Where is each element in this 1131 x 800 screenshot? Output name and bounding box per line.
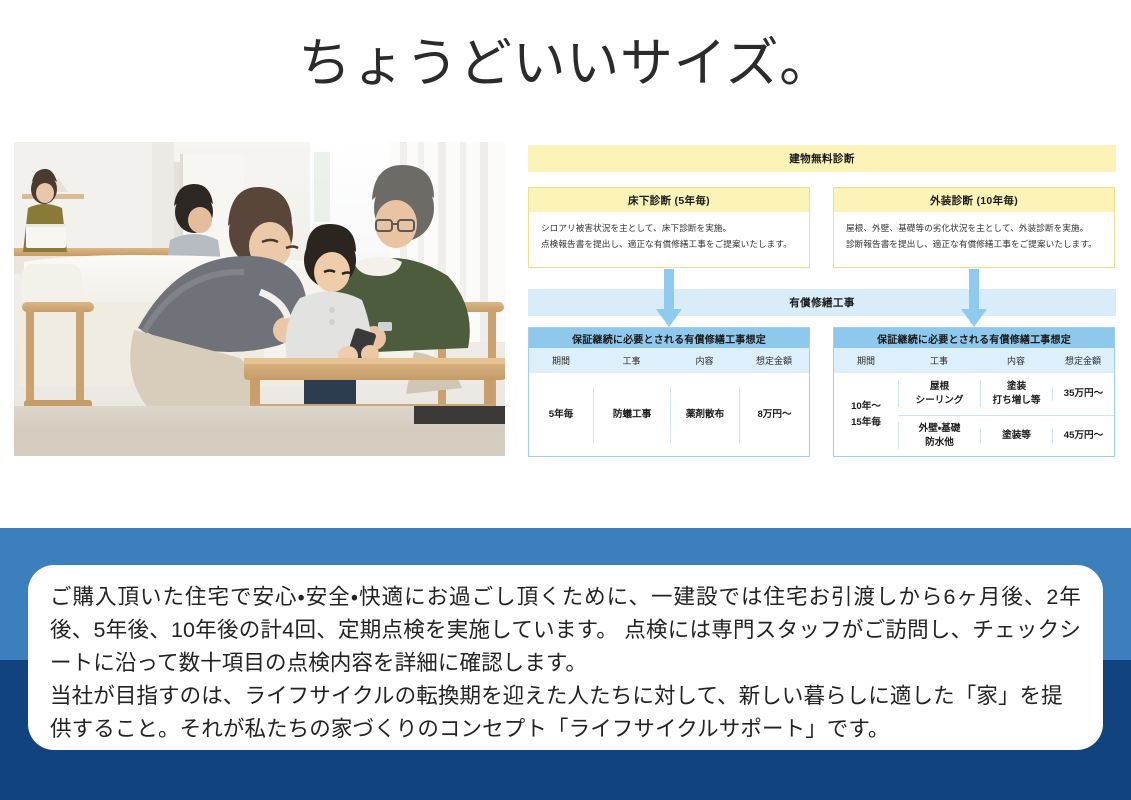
maintenance-diagram: 建物無料診断 床下診断 (5年毎) シロアリ被害状況を主として、床下診断を実施。… bbox=[528, 145, 1116, 463]
colhead-amount: 想定金額 bbox=[1052, 354, 1114, 367]
colhead-detail: 内容 bbox=[670, 354, 739, 367]
cell-work-line2: シーリング bbox=[899, 394, 980, 408]
cell-amount: 45万円〜 bbox=[1052, 429, 1114, 443]
table-row: 外壁・基礎 防水他 塗装等 45万円〜 bbox=[898, 415, 1114, 457]
family-living-room-photo bbox=[14, 142, 505, 456]
cell-amount: 8万円〜 bbox=[739, 387, 809, 443]
cell-detail: 塗装 打ち増し等 bbox=[980, 380, 1052, 407]
repair-table-exterior-rows: 屋根 シーリング 塗装 打ち増し等 35万円〜 外壁・基礎 防水他 bbox=[898, 373, 1114, 456]
diagram-band-free-inspection: 建物無料診断 bbox=[528, 145, 1116, 172]
arrow-down-icon-left bbox=[654, 269, 684, 329]
page-root: ちょうどいいサイズ。 bbox=[0, 0, 1131, 800]
inspection-card-exterior-title: 外装診断 (10年毎) bbox=[834, 188, 1114, 212]
repair-table-underfloor: 保証継続に必要とされる有償修繕工事想定 期間 工事 内容 想定金額 5年毎 防蟻… bbox=[528, 327, 810, 457]
cell-work-line2: 防水他 bbox=[899, 436, 980, 450]
colhead-amount: 想定金額 bbox=[739, 354, 809, 367]
colhead-work: 工事 bbox=[898, 354, 980, 367]
colhead-work: 工事 bbox=[593, 354, 670, 367]
cell-work-line1: 屋根 bbox=[899, 380, 980, 394]
band-mid-label: 有償修繕工事 bbox=[789, 295, 855, 310]
cell-detail-line1: 塗装 bbox=[981, 380, 1052, 394]
cell-work-line1: 外壁・基礎 bbox=[899, 422, 980, 436]
colhead-period: 期間 bbox=[834, 354, 898, 367]
cell-detail: 薬剤散布 bbox=[670, 387, 739, 443]
repair-table-exterior-body: 10年〜 15年毎 屋根 シーリング 塗装 打ち増し等 35万円〜 bbox=[834, 373, 1114, 456]
cell-period-line2: 15年毎 bbox=[851, 415, 881, 431]
inspection-card-underfloor: 床下診断 (5年毎) シロアリ被害状況を主として、床下診断を実施。 点検報告書を… bbox=[528, 187, 810, 268]
table-row: 屋根 シーリング 塗装 打ち増し等 35万円〜 bbox=[898, 373, 1114, 415]
repair-table-exterior-colheads: 期間 工事 内容 想定金額 bbox=[834, 348, 1114, 373]
band-top-label: 建物無料診断 bbox=[789, 151, 855, 166]
table-row: 5年毎 防蟻工事 薬剤散布 8万円〜 bbox=[529, 373, 809, 456]
cell-period: 5年毎 bbox=[529, 387, 593, 443]
inspection-card-underfloor-title: 床下診断 (5年毎) bbox=[529, 188, 809, 212]
cell-work: 外壁・基礎 防水他 bbox=[898, 422, 980, 449]
inspection-card-underfloor-line1: シロアリ被害状況を主として、床下診断を実施。 bbox=[541, 221, 799, 237]
cell-amount: 35万円〜 bbox=[1052, 387, 1114, 401]
repair-table-exterior-title: 保証継続に必要とされる有償修繕工事想定 bbox=[834, 328, 1114, 348]
inspection-card-exterior-line1: 屋根、外壁、基礎等の劣化状況を主として、外装診断を実施。 bbox=[846, 221, 1104, 237]
cell-work: 屋根 シーリング bbox=[898, 380, 980, 407]
inspection-card-exterior-line2: 診断報告書を提出し、適正な有償修繕工事をご提案いたします。 bbox=[846, 237, 1104, 253]
inspection-card-exterior: 外装診断 (10年毎) 屋根、外壁、基礎等の劣化状況を主として、外装診断を実施。… bbox=[833, 187, 1115, 268]
footer-message-card: ご購入頂いた住宅で安心・安全・快適にお過ごし頂くために、一建設では住宅お引渡しか… bbox=[28, 565, 1103, 750]
cell-detail: 塗装等 bbox=[980, 429, 1052, 443]
cell-detail-line2: 打ち増し等 bbox=[981, 394, 1052, 408]
diagram-band-paid-repair: 有償修繕工事 bbox=[528, 289, 1116, 316]
repair-table-exterior: 保証継続に必要とされる有償修繕工事想定 期間 工事 内容 想定金額 10年〜 1… bbox=[833, 327, 1115, 457]
inspection-card-underfloor-body: シロアリ被害状況を主として、床下診断を実施。 点検報告書を提出し、適正な有償修繕… bbox=[529, 212, 809, 253]
repair-table-underfloor-colheads: 期間 工事 内容 想定金額 bbox=[529, 348, 809, 373]
cell-period-line1: 10年〜 bbox=[851, 399, 881, 415]
inspection-card-exterior-body: 屋根、外壁、基礎等の劣化状況を主として、外装診断を実施。 診断報告書を提出し、適… bbox=[834, 212, 1114, 253]
colhead-detail: 内容 bbox=[980, 354, 1052, 367]
page-title: ちょうどいいサイズ。 bbox=[0, 33, 1131, 96]
inspection-card-underfloor-line2: 点検報告書を提出し、適正な有償修繕工事をご提案いたします。 bbox=[541, 237, 799, 253]
footer-paragraph-1: ご購入頂いた住宅で安心・安全・快適にお過ごし頂くために、一建設では住宅お引渡しか… bbox=[50, 581, 1081, 680]
cell-work: 防蟻工事 bbox=[593, 387, 670, 443]
repair-table-underfloor-title: 保証継続に必要とされる有償修繕工事想定 bbox=[529, 328, 809, 348]
arrow-down-icon-right bbox=[959, 269, 989, 329]
footer-paragraph-2: 当社が目指すのは、ライフサイクルの転換期を迎えた人たちに対して、新しい暮らしに適… bbox=[50, 680, 1081, 746]
colhead-period: 期間 bbox=[529, 354, 593, 367]
cell-period-merged: 10年〜 15年毎 bbox=[834, 373, 898, 456]
